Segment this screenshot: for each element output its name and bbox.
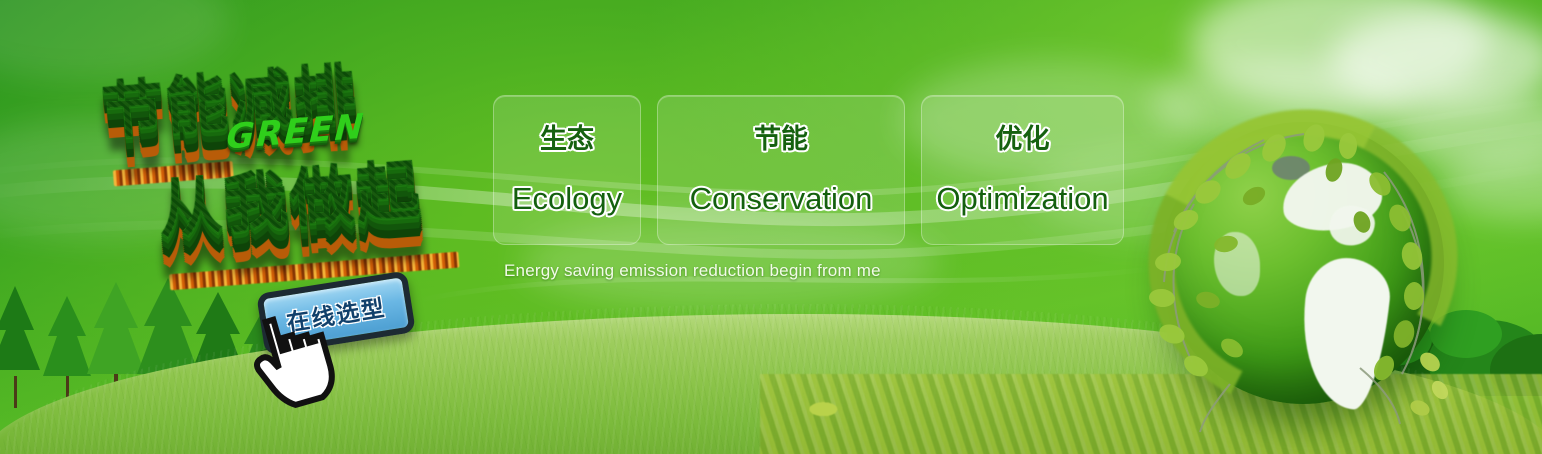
cloud-shape bbox=[1190, 0, 1490, 108]
shrub-cluster bbox=[1252, 266, 1542, 396]
cloud-shape bbox=[1330, 10, 1542, 110]
feature-card-title-en: Conservation bbox=[690, 183, 873, 214]
ivy-vine-ring bbox=[1109, 69, 1497, 450]
feature-card-optimization[interactable]: 优化 Optimization bbox=[921, 95, 1124, 245]
landmass-central-america bbox=[1326, 201, 1378, 250]
tagline-text: Energy saving emission reduction begin f… bbox=[504, 261, 881, 281]
feature-card-title-en: Ecology bbox=[512, 183, 622, 214]
feature-card-ecology[interactable]: 生态 Ecology bbox=[493, 95, 641, 245]
cta-area: 在线选型 bbox=[252, 278, 432, 378]
cloud-shape bbox=[1440, 150, 1542, 220]
feature-card-title-en: Optimization bbox=[936, 183, 1108, 214]
fallen-leaf-ground bbox=[760, 374, 1542, 454]
hero-headline: 节能减排 GREEN 从我做起 bbox=[88, 23, 505, 284]
landmass-greenland bbox=[1272, 156, 1310, 180]
grass-meadow bbox=[0, 314, 1542, 454]
landmass-north-america bbox=[1278, 157, 1386, 236]
ivy-covered-earth-globe bbox=[1134, 112, 1454, 442]
green-energy-banner: 节能减排 GREEN 从我做起 生态 Ecology 节能 Conservati… bbox=[0, 0, 1542, 454]
landmass-edge bbox=[1214, 232, 1260, 296]
ivy-leaf-overlay bbox=[1134, 112, 1454, 442]
cloud-shape bbox=[1390, 90, 1542, 170]
feature-card-title-cn: 节能 bbox=[754, 126, 808, 153]
feature-card-conservation[interactable]: 节能 Conservation bbox=[657, 95, 905, 245]
grass-texture bbox=[0, 304, 1542, 454]
globe-sphere bbox=[1162, 122, 1444, 404]
feature-card-list: 生态 Ecology 节能 Conservation 优化 Optimizati… bbox=[493, 95, 1124, 245]
feature-card-title-cn: 优化 bbox=[996, 126, 1050, 153]
headline-line-2: 从我做起 bbox=[154, 138, 424, 250]
cloud-shape bbox=[1150, 58, 1410, 148]
feature-card-title-cn: 生态 bbox=[540, 126, 594, 153]
landmass-south-america bbox=[1294, 254, 1393, 412]
